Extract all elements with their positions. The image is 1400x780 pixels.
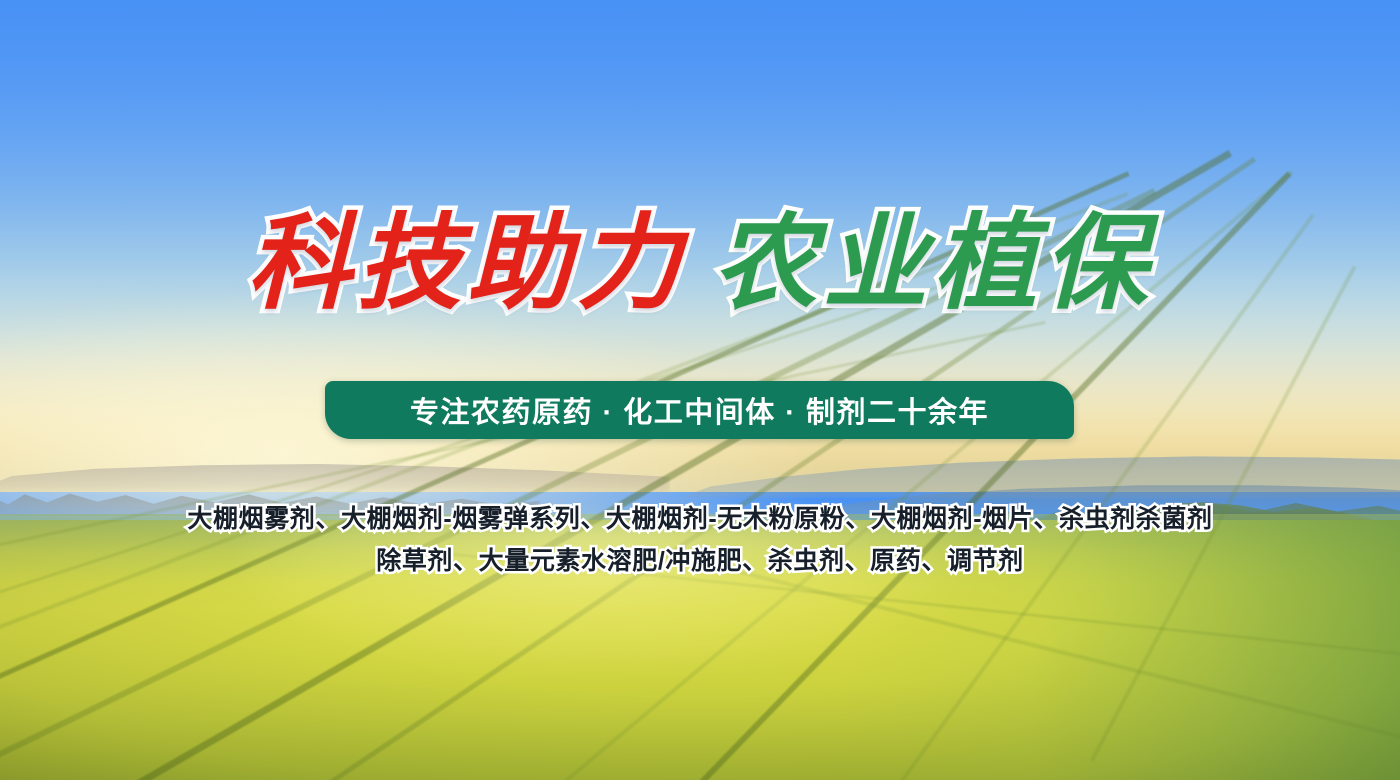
subtitle-pill: 专注农药原药 · 化工中间体 · 制剂二十余年 <box>325 381 1074 439</box>
subtitle-text: 专注农药原药 · 化工中间体 · 制剂二十余年 <box>410 389 989 431</box>
headline-green-part: 农业植保 <box>713 205 1153 321</box>
product-line-2: 除草剂、大量元素水溶肥/冲施肥、杀虫剂、原药、调节剂 <box>0 540 1400 582</box>
headline: 科技助力 农业植保 <box>0 205 1400 321</box>
hero-banner: 科技助力 农业植保 专注农药原药 · 化工中间体 · 制剂二十余年 大棚烟雾剂、… <box>0 0 1400 780</box>
headline-red-part: 科技助力 <box>247 205 687 321</box>
product-line-1: 大棚烟雾剂、大棚烟剂-烟雾弹系列、大棚烟剂-无木粉原粉、大棚烟剂-烟片、杀虫剂杀… <box>0 498 1400 540</box>
product-list: 大棚烟雾剂、大棚烟剂-烟雾弹系列、大棚烟剂-无木粉原粉、大棚烟剂-烟片、杀虫剂杀… <box>0 498 1400 582</box>
